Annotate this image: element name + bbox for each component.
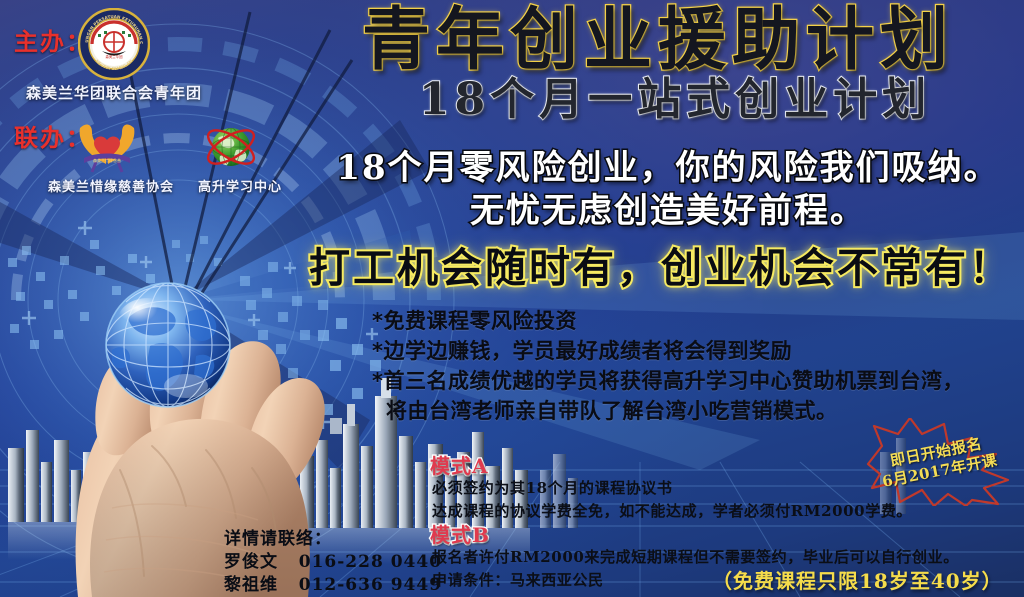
contact-person-1: 罗俊文 016-228 0440 [224,551,442,574]
poster-subtitle: 18个月一站式创业计划 [330,78,1020,122]
age-restriction-note: （免费课程只限18岁至40岁） [712,565,1003,594]
contact-person-2: 黎祖维 012-636 9449 [224,574,442,597]
green-globe-atom-icon [200,116,262,178]
coorganizer-label: 联办： [14,118,92,153]
mode-a-line-2: 达成课程的协议学费全免，如不能达成，学者必须付RM2000学费。 [432,500,912,521]
contact-phone-1: 016-228 0440 [299,552,442,572]
contact-block: 详情请联络： 罗俊文 016-228 0440 黎祖维 012-636 9449 [224,528,442,597]
benefit-item: *首三名成绩优越的学员将获得高升学习中心赞助机票到台湾， [372,366,1024,396]
contact-name-1: 罗俊文 [224,552,278,572]
mode-b-line-2: 申请条件：马来西亚公民 [432,569,604,590]
mode-b-line-1: 报名者许付RM2000来完成短期课程但不需要签约，毕业后可以自行创业。 [432,546,959,567]
poster-title: 青年创业援助计划 [296,6,1020,75]
contact-label: 详情请联络： [224,528,442,551]
mode-a-line-1: 必须签约为其18个月的课程协议书 [432,477,672,498]
contact-phone-2: 012-636 9449 [299,575,442,595]
benefits-list: *免费课程零风险投资 *边学边赚钱，学员最好成绩者将会得到奖励 *首三名成绩优越… [372,306,1024,426]
coorganizer-name-2: 高升学习中心 [198,176,282,195]
svg-text:森美兰惜缘慈善: 森美兰惜缘慈善 [93,157,121,163]
svg-text:森美兰华团: 森美兰华团 [106,54,124,59]
benefit-item: *边学边赚钱，学员最好成绩者将会得到奖励 [372,336,1024,366]
poster-canvas: 森美兰华团 GABUNGAN PERSATUAN KETURUNAN CINA … [0,0,1024,597]
enrollment-badge: 即日开始报名 6月2017年开课 [856,418,1020,506]
benefit-item: *免费课程零风险投资 [372,306,1024,336]
contact-name-2: 黎祖维 [224,575,278,595]
slogan-line-2: 无忧无虑创造美好前程。 [318,183,1018,232]
host-label: 主办： [14,22,92,57]
coorganizer-name-1: 森美兰惜缘慈善协会 [48,176,174,195]
headline-text: 打工机会随时有，创业机会不常有！ [300,234,1022,294]
host-org-name: 森美兰华团联合会青年团 [26,82,202,103]
slogan-line-1: 18个月零风险创业，你的风险我们吸纳。 [318,140,1018,189]
mode-a-tag: 模式A [430,450,489,479]
